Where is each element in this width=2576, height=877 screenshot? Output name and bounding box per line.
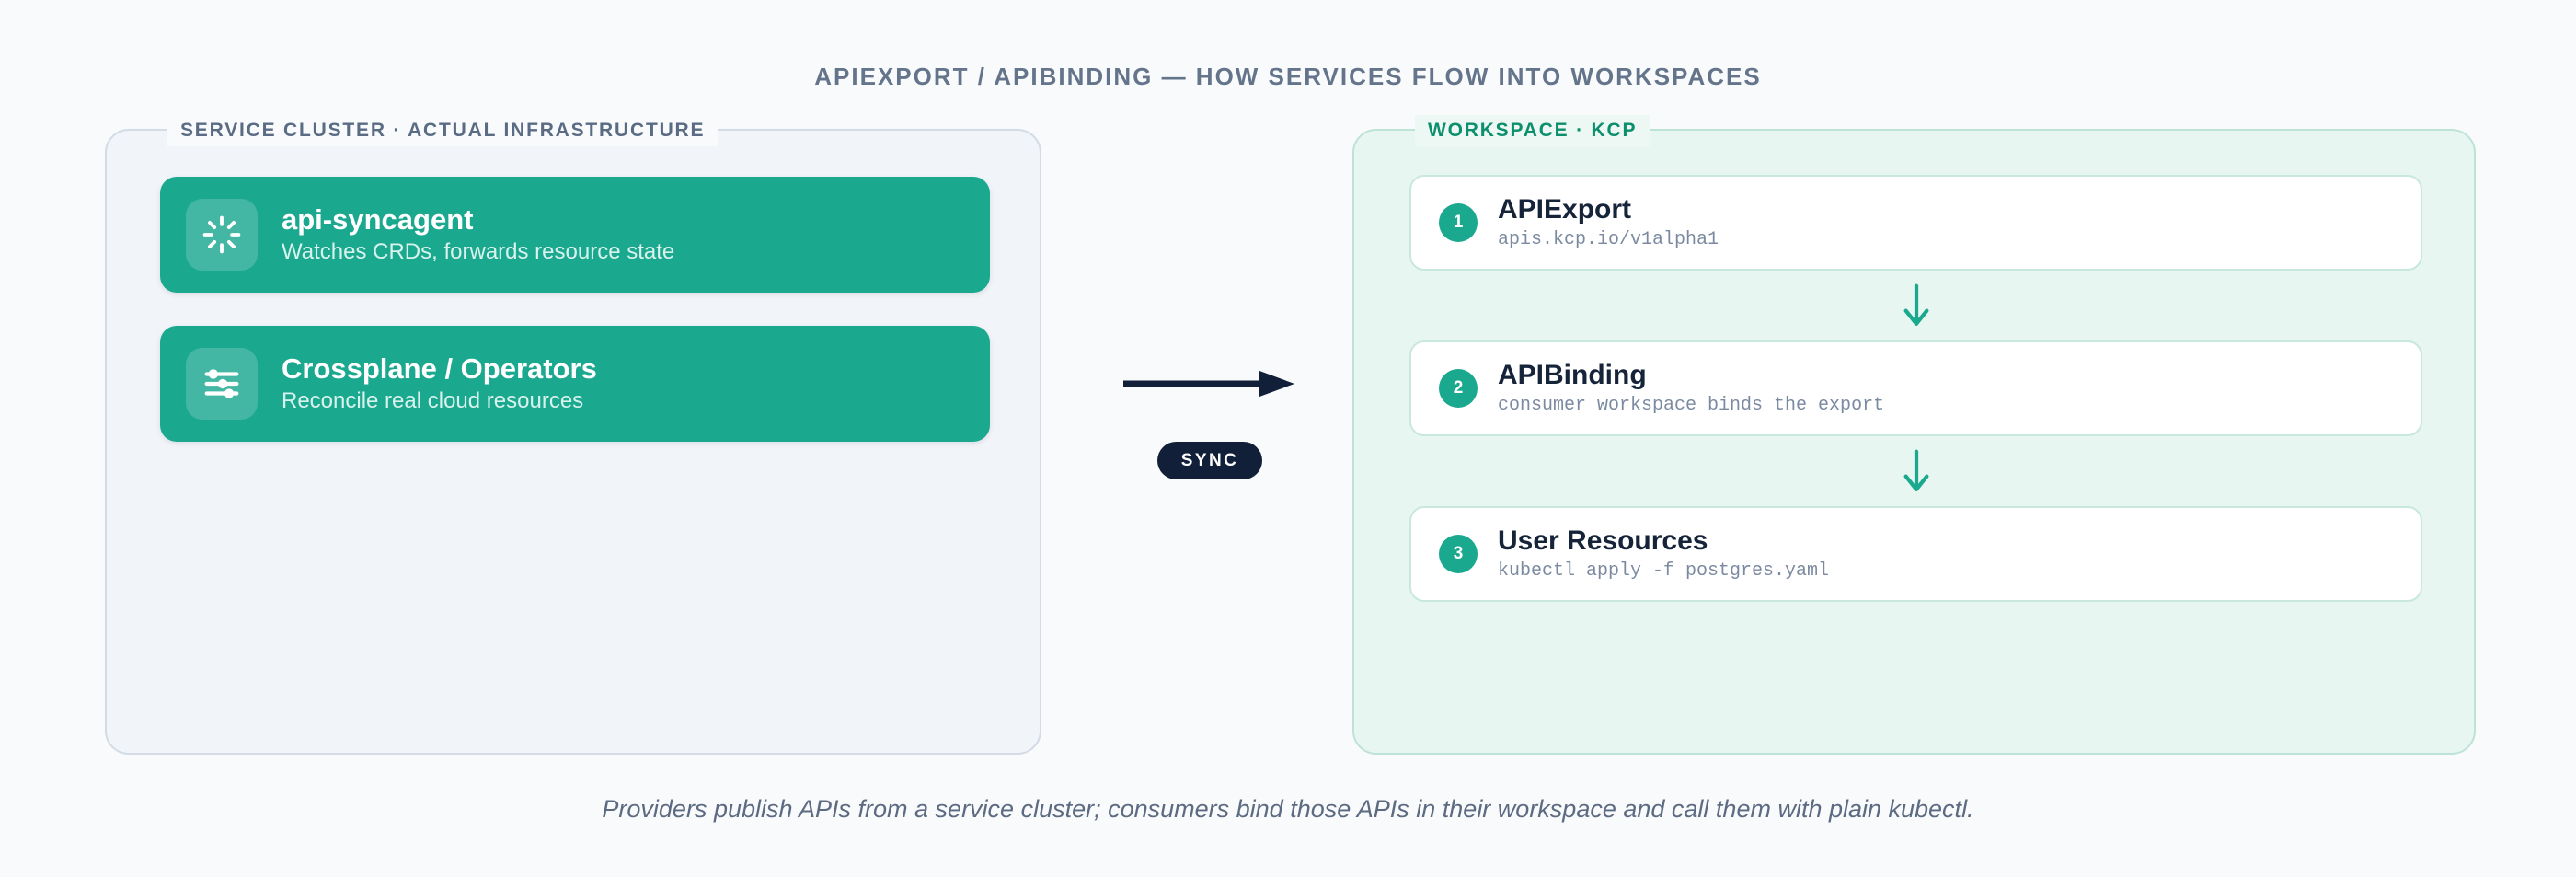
sliders-tune-icon xyxy=(186,348,258,420)
service-cluster-panel: SERVICE CLUSTER · ACTUAL INFRASTRUCTURE xyxy=(105,129,1041,755)
step-card-apibinding[interactable]: 2 APIBinding consumer workspace binds th… xyxy=(1409,340,2422,436)
workspace-kcp-panel: WORKSPACE · KCP 1 APIExport apis.kcp.io/… xyxy=(1352,129,2476,755)
arrow-right-icon xyxy=(1123,368,1296,399)
step-card-subtitle: apis.kcp.io/v1alpha1 xyxy=(1498,229,1719,251)
arrow-down-icon xyxy=(1901,283,1932,329)
step-card-apiexport[interactable]: 1 APIExport apis.kcp.io/v1alpha1 xyxy=(1409,175,2422,271)
step-number-badge: 2 xyxy=(1439,369,1478,408)
page-title: APIEXPORT / APIBINDING — HOW SERVICES FL… xyxy=(0,63,2576,91)
arrow-down-icon xyxy=(1901,448,1932,494)
provider-card-crossplane-operators[interactable]: Crossplane / Operators Reconcile real cl… xyxy=(160,326,990,442)
provider-card-subtitle: Reconcile real cloud resources xyxy=(282,388,597,415)
diagram-caption: Providers publish APIs from a service cl… xyxy=(0,795,2576,824)
step-number-badge: 1 xyxy=(1439,203,1478,242)
provider-card-api-syncagent[interactable]: api-syncagent Watches CRDs, forwards res… xyxy=(160,177,990,293)
provider-card-text: api-syncagent Watches CRDs, forwards res… xyxy=(282,203,674,266)
step-card-subtitle: kubectl apply -f postgres.yaml xyxy=(1498,560,1829,583)
step-connector-1 xyxy=(1409,271,2422,340)
step-card-text: APIExport apis.kcp.io/v1alpha1 xyxy=(1498,194,1719,251)
workspace-kcp-panel-label: WORKSPACE · KCP xyxy=(1415,115,1650,146)
sync-badge: SYNC xyxy=(1157,442,1262,479)
step-card-title: User Resources xyxy=(1498,525,1829,558)
spinner-sync-icon xyxy=(186,199,258,271)
step-card-user-resources[interactable]: 3 User Resources kubectl apply -f postgr… xyxy=(1409,506,2422,602)
provider-card-text: Crossplane / Operators Reconcile real cl… xyxy=(282,352,597,415)
step-card-text: APIBinding consumer workspace binds the … xyxy=(1498,360,1884,417)
sync-connector: SYNC xyxy=(1086,368,1334,479)
step-connector-2 xyxy=(1409,436,2422,506)
step-card-text: User Resources kubectl apply -f postgres… xyxy=(1498,525,1829,583)
provider-card-subtitle: Watches CRDs, forwards resource state xyxy=(282,239,674,266)
provider-card-title: api-syncagent xyxy=(282,203,674,237)
diagram-canvas: APIEXPORT / APIBINDING — HOW SERVICES FL… xyxy=(0,0,2576,877)
provider-card-list: api-syncagent Watches CRDs, forwards res… xyxy=(160,177,990,442)
step-card-title: APIBinding xyxy=(1498,360,1884,392)
step-card-subtitle: consumer workspace binds the export xyxy=(1498,395,1884,417)
step-number-badge: 3 xyxy=(1439,535,1478,573)
step-card-list: 1 APIExport apis.kcp.io/v1alpha1 2 APIBi… xyxy=(1409,175,2422,602)
step-card-title: APIExport xyxy=(1498,194,1719,226)
service-cluster-panel-label: SERVICE CLUSTER · ACTUAL INFRASTRUCTURE xyxy=(167,115,718,146)
provider-card-title: Crossplane / Operators xyxy=(282,352,597,386)
